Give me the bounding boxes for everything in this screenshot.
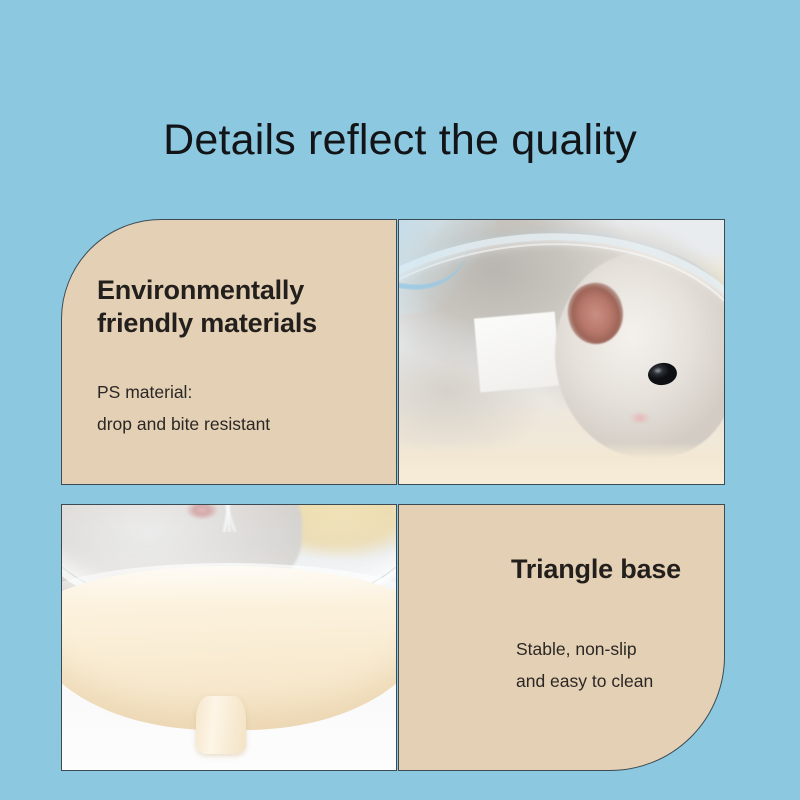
panel-body: PS material: drop and bite resistant	[97, 376, 377, 441]
panel-heading: Triangle base	[511, 553, 725, 586]
sand-bath-triangle-foot-image	[62, 505, 396, 770]
panel-hamster-in-clear-bath-photo	[398, 219, 725, 485]
panel-triangle-base: Triangle base Stable, non-slip and easy …	[398, 504, 725, 771]
panel-environmentally-friendly-materials: Environmentally friendly materials PS ma…	[61, 219, 397, 485]
panel-sand-bath-triangle-foot-photo	[61, 504, 397, 771]
hamster-in-clear-bath-image	[399, 220, 724, 484]
triangle-support-foot	[196, 696, 246, 754]
page-title: Details reflect the quality	[0, 117, 800, 164]
photo-floor	[399, 442, 724, 484]
panel-heading: Environmentally friendly materials	[97, 274, 387, 340]
feature-grid: Environmentally friendly materials PS ma…	[61, 219, 725, 771]
product-feature-infographic: Details reflect the quality Environmenta…	[0, 0, 800, 800]
panel-body: Stable, non-slip and easy to clean	[516, 633, 716, 698]
